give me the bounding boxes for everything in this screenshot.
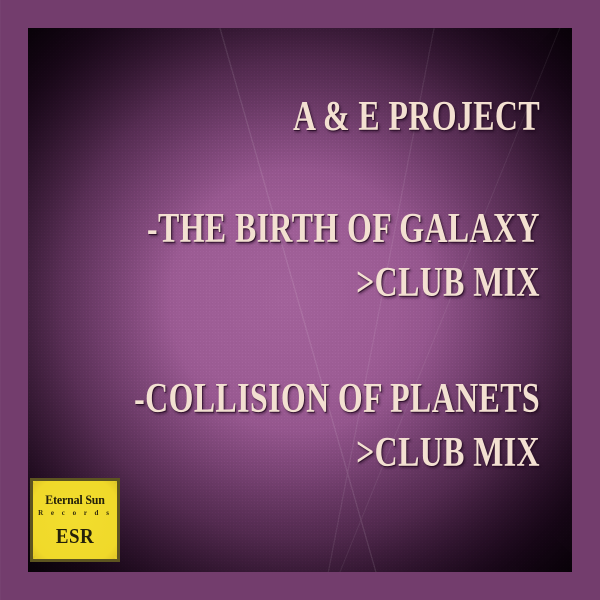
record-label-logo-text: Eternal Sun R e c o r d s ESR: [33, 493, 117, 547]
record-label-name: Eternal Sun: [36, 493, 113, 506]
track-2-mix: >CLUB MIX: [356, 432, 540, 474]
artist-name: A & E PROJECT: [293, 96, 540, 138]
record-label-logo: Eternal Sun R e c o r d s ESR: [30, 478, 120, 562]
track-2-title: -COLLISION OF PLANETS: [134, 378, 540, 420]
track-1-title: -THE BIRTH OF GALAXY: [147, 208, 540, 250]
record-label-abbreviation: ESR: [37, 526, 113, 547]
record-label-subtitle: R e c o r d s: [33, 510, 117, 517]
album-cover: A & E PROJECT -THE BIRTH OF GALAXY >CLUB…: [0, 0, 600, 600]
track-1-mix: >CLUB MIX: [356, 262, 540, 304]
